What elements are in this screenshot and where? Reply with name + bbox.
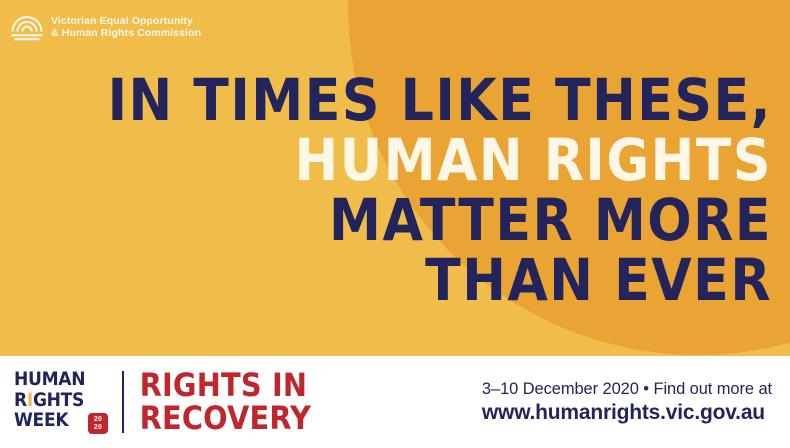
campaign-title-line-2: RECOVERY <box>140 402 311 435</box>
hrw-logo-line-2-b: GHTS <box>33 389 84 411</box>
year-badge-top: 20 <box>94 416 102 424</box>
campaign-banner: Victorian Equal Opportunity & Human Righ… <box>0 0 790 448</box>
hrw-logo-line-2-a: R <box>14 389 27 411</box>
commission-name: Victorian Equal Opportunity & Human Righ… <box>51 15 201 40</box>
vertical-divider <box>122 371 124 433</box>
headline-line-1: IN TIMES LIKE THESE, <box>0 70 772 130</box>
headline-block: IN TIMES LIKE THESE, HUMAN RIGHTS MATTER… <box>0 70 772 310</box>
hrw-logo-line-1: HUMAN <box>14 369 106 390</box>
hero-section: Victorian Equal Opportunity & Human Righ… <box>0 0 790 356</box>
event-dates: 3–10 December 2020 • Find out more at <box>482 379 772 400</box>
footer-bar: HUMAN RIGHTS WEEK 20 20 RIGHTS IN RECOVE… <box>0 356 790 448</box>
campaign-title-line-1: RIGHTS IN <box>140 369 311 402</box>
year-badge: 20 20 <box>88 413 108 434</box>
human-rights-week-logo: HUMAN RIGHTS WEEK 20 20 <box>14 369 106 435</box>
headline-line-4: THAN EVER <box>0 250 772 310</box>
commission-brand-lockup: Victorian Equal Opportunity & Human Righ… <box>10 12 201 42</box>
campaign-title: RIGHTS IN RECOVERY <box>140 369 311 435</box>
headline-line-2: HUMAN RIGHTS <box>0 130 772 190</box>
headline-line-3: MATTER MORE <box>0 190 772 250</box>
website-url[interactable]: www.humanrights.vic.gov.au <box>482 400 772 425</box>
hrw-logo-line-2: RIGHTS <box>14 390 106 411</box>
year-badge-bottom: 20 <box>94 424 102 432</box>
contact-block: 3–10 December 2020 • Find out more at ww… <box>482 379 772 425</box>
rainbow-arc-icon <box>10 12 44 42</box>
